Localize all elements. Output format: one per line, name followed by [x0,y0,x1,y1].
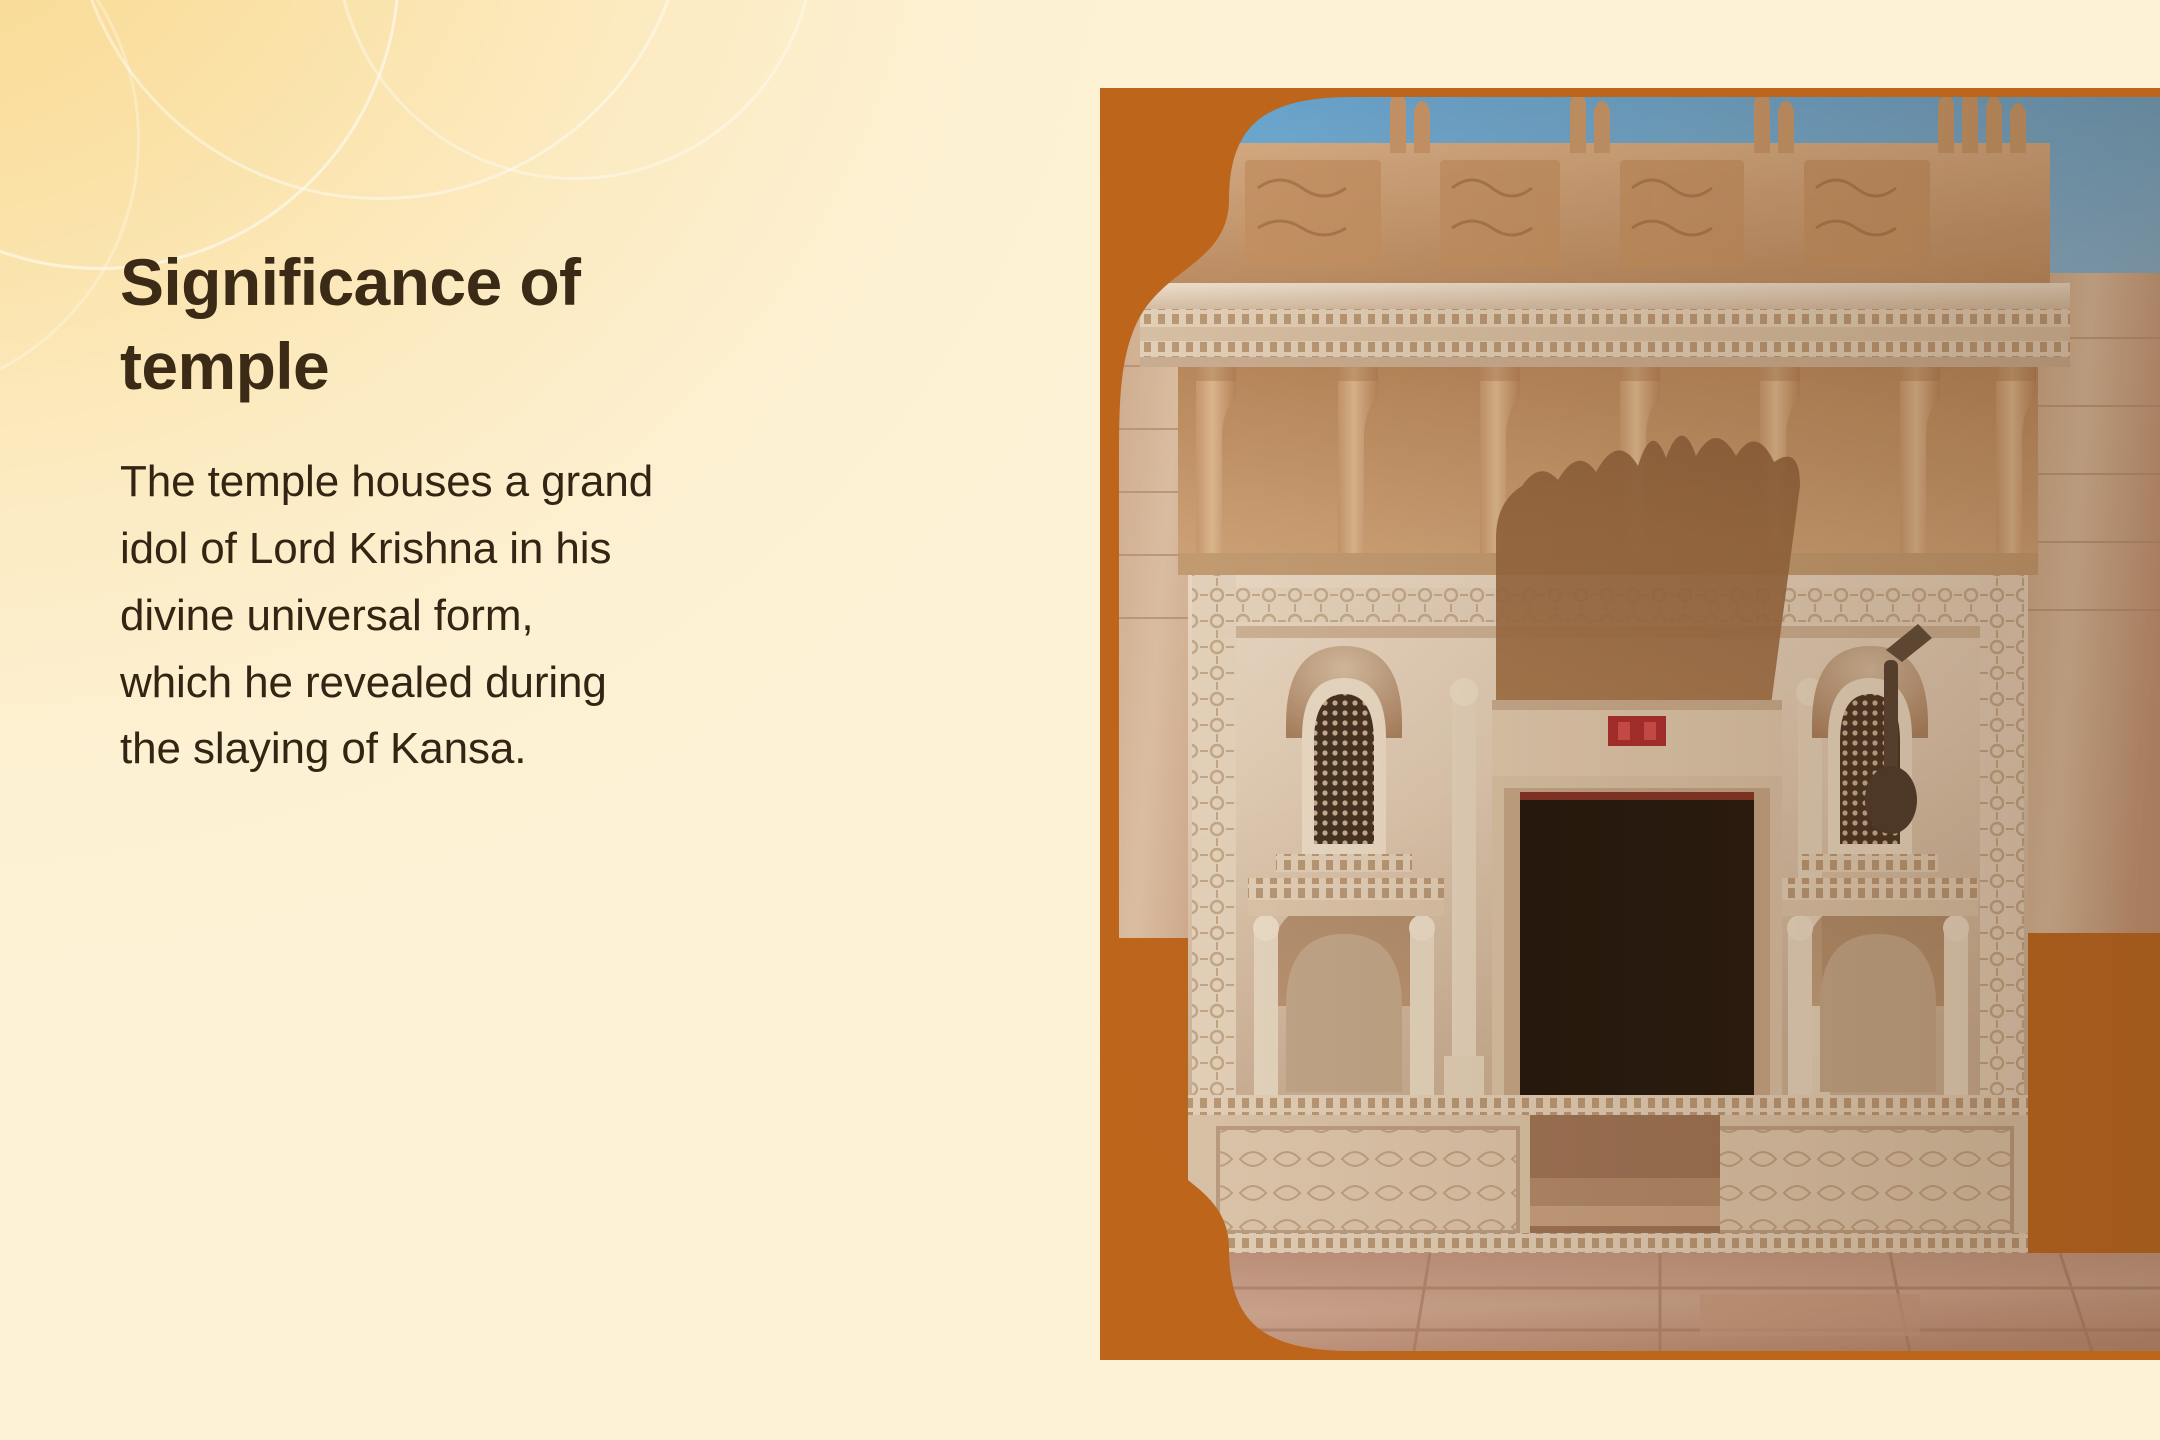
decorative-circle-outline [0,0,140,400]
body-paragraph: The temple houses a grand idol of Lord K… [120,449,800,783]
page-title: Significance of temple [120,240,800,409]
slide-canvas: Significance of temple The temple houses… [0,0,2160,1440]
decorative-circle-outline [70,0,690,200]
text-column: Significance of temple The temple houses… [120,240,800,783]
temple-photo-illustration [1100,88,2160,1360]
decorative-circle-outline [335,0,815,180]
decorative-circle-outline [0,0,400,270]
temple-photo-frame [1100,88,2160,1360]
temple-photo [1100,88,2160,1360]
